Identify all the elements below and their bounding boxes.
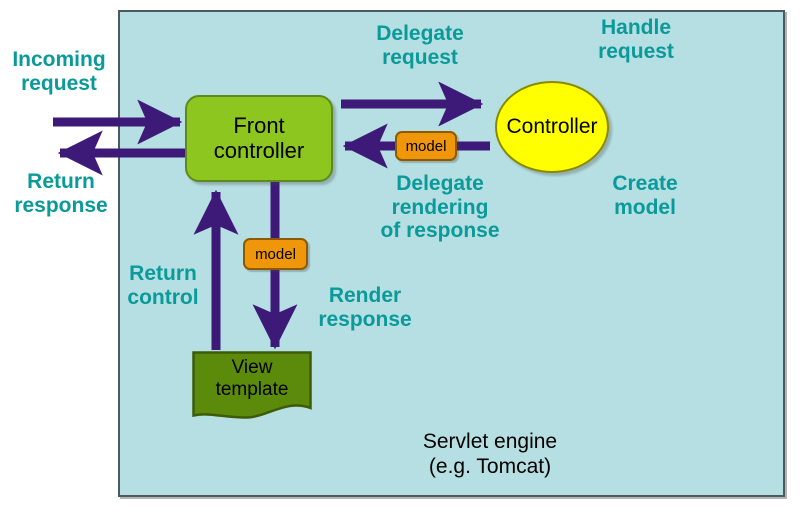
servlet-engine-caption: Servlet engine (e.g. Tomcat) [355,430,625,480]
model-badge-view[interactable]: model [243,238,308,270]
node-controller[interactable]: Controller [495,81,609,173]
label-delegate-rendering: Delegate rendering of response [355,172,525,243]
controller-label: Controller [506,115,597,139]
front-controller-label: Front controller [214,114,304,163]
label-return-control: Return control [108,262,218,309]
node-view-template[interactable]: View template [192,351,312,421]
label-delegate-request: Delegate request [340,22,500,69]
model-badge-controller[interactable]: model [395,131,457,161]
label-incoming-request: Incoming request [0,48,118,95]
servlet-engine-container [118,10,785,497]
label-return-response: Return response [0,170,122,217]
label-render-response: Render response [290,284,440,331]
diagram-canvas: Front controller Controller View templat… [0,0,800,513]
model-badge-controller-label: model [406,138,447,155]
model-badge-view-label: model [255,246,296,263]
label-create-model: Create model [570,172,720,219]
label-handle-request: Handle request [556,16,716,63]
view-template-label: View template [192,357,312,400]
node-front-controller[interactable]: Front controller [185,95,333,182]
